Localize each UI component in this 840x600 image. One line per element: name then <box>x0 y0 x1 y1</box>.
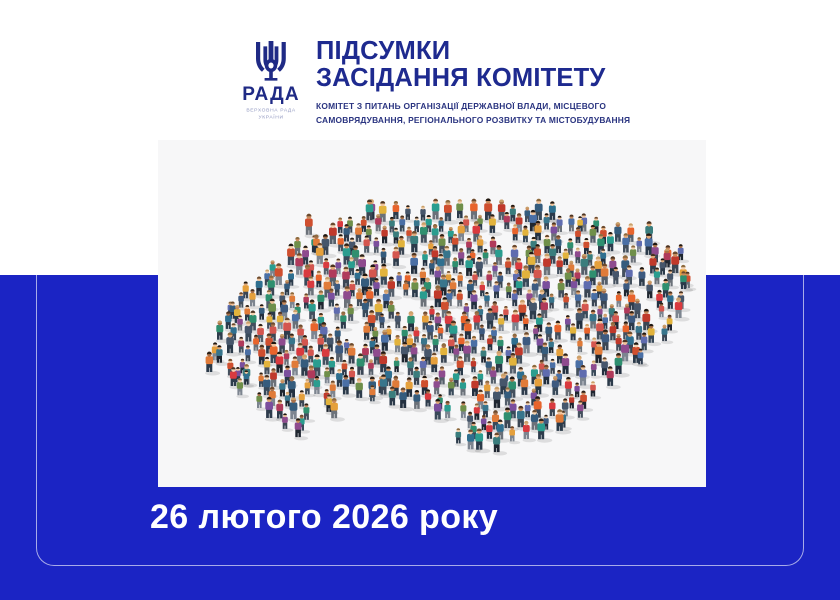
rada-wordmark: РАДА <box>242 85 300 104</box>
poster-canvas: РАДА ВЕРХОВНА РАДА УКРАЇНИ ПІДСУМКИ ЗАСІ… <box>0 0 840 600</box>
crowd-ukraine-map-image <box>158 140 706 487</box>
committee-subtitle-line1: КОМІТЕТ З ПИТАНЬ ОРГАНІЗАЦІЇ ДЕРЖАВНОЇ В… <box>316 100 698 114</box>
rada-sub-wordmark: ВЕРХОВНА РАДА УКРАЇНИ <box>246 107 296 122</box>
page-title-line2: ЗАСІДАННЯ КОМІТЕТУ <box>316 65 698 92</box>
committee-subtitle-line2: САМОВРЯДУВАННЯ, РЕГІОНАЛЬНОГО РОЗВИТКУ Т… <box>316 114 698 128</box>
header: РАДА ВЕРХОВНА РАДА УКРАЇНИ ПІДСУМКИ ЗАСІ… <box>238 36 698 128</box>
title-block: ПІДСУМКИ ЗАСІДАННЯ КОМІТЕТУ КОМІТЕТ З ПИ… <box>316 36 698 127</box>
ukrainian-trident-emblem <box>253 38 289 82</box>
page-title-line1: ПІДСУМКИ <box>316 37 450 65</box>
rada-sub-wordmark-line1: ВЕРХОВНА РАДА <box>246 107 296 114</box>
page-title: ПІДСУМКИ ЗАСІДАННЯ КОМІТЕТУ <box>316 38 698 92</box>
crowd-ukraine-map-illustration <box>158 140 706 487</box>
event-date: 26 лютого 2026 року <box>150 500 498 534</box>
rada-sub-wordmark-line2: УКРАЇНИ <box>246 114 296 121</box>
rada-logo: РАДА ВЕРХОВНА РАДА УКРАЇНИ <box>238 36 304 117</box>
committee-subtitle: КОМІТЕТ З ПИТАНЬ ОРГАНІЗАЦІЇ ДЕРЖАВНОЇ В… <box>316 100 698 127</box>
